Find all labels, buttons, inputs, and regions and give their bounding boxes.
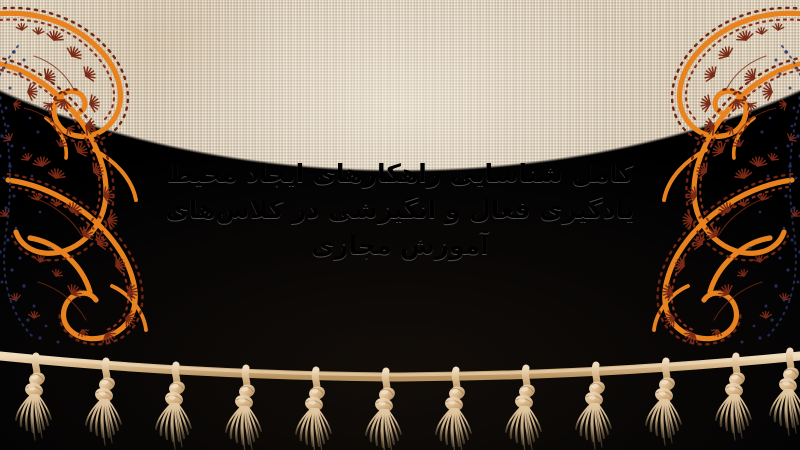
title-line-1: کامل شناسایی راهکارهای ایجاد محیط — [0, 156, 800, 192]
title-slide: کامل شناسایی راهکارهای ایجاد محیط یادگیر… — [0, 0, 800, 450]
cloth-hem-shadow — [0, 316, 800, 378]
title-line-3: آموزش مجازی — [0, 228, 800, 264]
slide-title: کامل شناسایی راهکارهای ایجاد محیط یادگیر… — [0, 156, 800, 264]
title-line-2: یادگیری فعال و انگیزشی در کلاس‌های — [0, 192, 800, 228]
